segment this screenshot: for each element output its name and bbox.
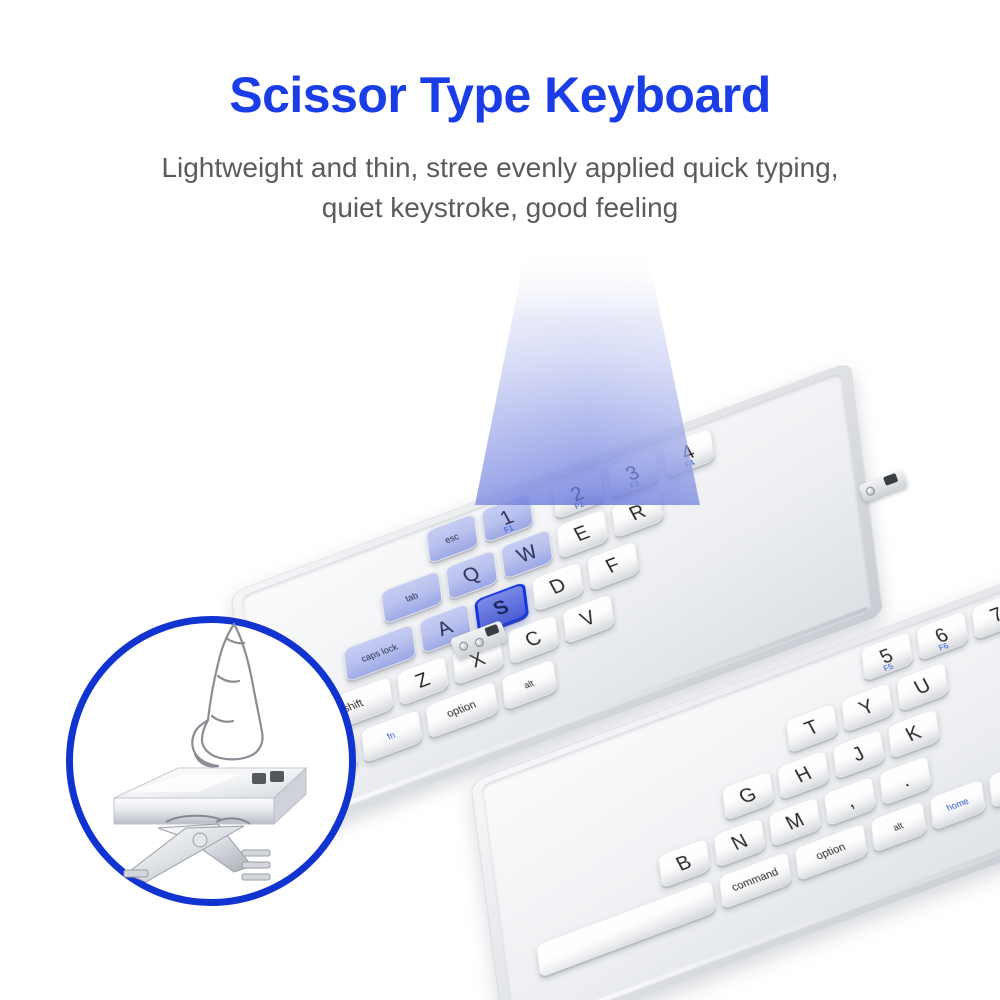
product-photo: 2 F2 3 F3 4 F4	[0, 255, 1000, 1000]
inset-artwork	[66, 616, 356, 906]
scissor-mechanism	[124, 816, 270, 882]
hinge-tab	[883, 473, 898, 486]
key-c[interactable]: C	[507, 614, 560, 665]
hinge-tab	[484, 624, 499, 637]
key-pgdn[interactable]: pgdn	[988, 756, 1000, 808]
key-k[interactable]: K	[887, 708, 940, 759]
key-j[interactable]: J	[832, 729, 885, 780]
subtitle-line-2: quiet keystroke, good feeling	[0, 188, 1000, 228]
hinge-screw	[865, 485, 877, 497]
key-home[interactable]: home	[929, 778, 986, 830]
key-5[interactable]: 5 F5	[860, 631, 913, 682]
key-6[interactable]: 6 F6	[916, 610, 969, 661]
scissor-mechanism-inset	[66, 616, 356, 906]
key-4[interactable]: 4 F4	[662, 427, 715, 478]
page-subtitle: Lightweight and thin, stree evenly appli…	[0, 148, 1000, 228]
key-m[interactable]: M	[768, 796, 821, 847]
key-t[interactable]: T	[785, 703, 838, 754]
key-f[interactable]: F	[586, 540, 639, 591]
subtitle-line-1: Lightweight and thin, stree evenly appli…	[0, 148, 1000, 188]
hinge-screw	[474, 637, 486, 649]
key-alt-left[interactable]: alt	[501, 658, 558, 710]
key-b[interactable]: B	[658, 838, 711, 889]
keyboard-hinge-right	[858, 470, 907, 503]
key-d[interactable]: D	[531, 561, 584, 612]
key-g[interactable]: G	[721, 770, 774, 821]
product-marketing-image: Scissor Type Keyboard Lightweight and th…	[0, 0, 1000, 1000]
key-esc[interactable]: esc	[426, 513, 479, 564]
key-w[interactable]: W	[500, 529, 553, 580]
key-u[interactable]: U	[896, 661, 949, 712]
keycap	[114, 768, 306, 824]
key-h[interactable]: H	[777, 749, 830, 800]
key-7[interactable]: 7	[971, 589, 1000, 640]
key-z[interactable]: Z	[396, 655, 449, 706]
key-n[interactable]: N	[713, 817, 766, 868]
key-y[interactable]: Y	[841, 682, 894, 733]
finger-icon	[192, 624, 262, 766]
key-q[interactable]: Q	[445, 550, 498, 601]
hinge-screw	[458, 640, 470, 652]
page-title: Scissor Type Keyboard	[0, 66, 1000, 124]
key-v[interactable]: V	[562, 593, 615, 644]
key-period[interactable]: .	[879, 755, 932, 806]
key-comma[interactable]: ,	[823, 776, 876, 827]
key-space[interactable]: space	[536, 879, 716, 978]
key-alt-right[interactable]: alt	[870, 800, 927, 852]
key-1[interactable]: 1 F1	[481, 492, 534, 543]
